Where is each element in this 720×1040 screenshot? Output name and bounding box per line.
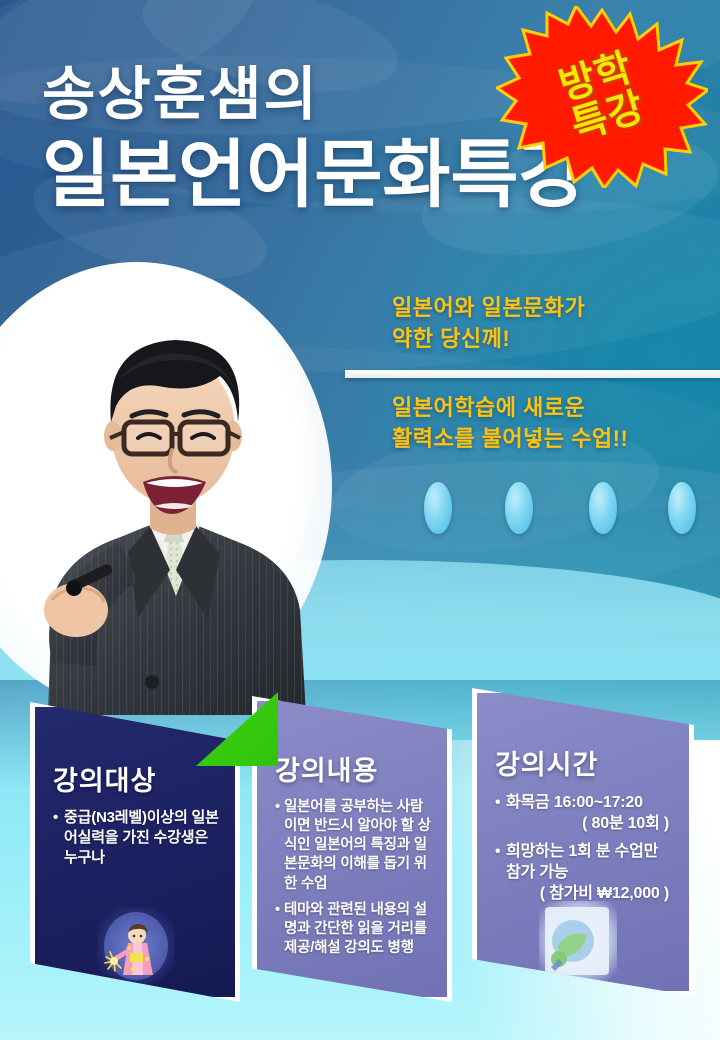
panel-2-heading: 강의내용 bbox=[275, 749, 431, 788]
globe-photo-icon bbox=[539, 901, 617, 983]
panel-1-list: 중급(N3레벨)이상의 일본어실력을 가진 수강생은 누구나 bbox=[53, 808, 219, 867]
tagline-1-line-2: 약한 당신께! bbox=[392, 323, 585, 354]
decorative-oval bbox=[505, 482, 533, 534]
decorative-oval bbox=[424, 482, 452, 534]
list-item: 일본어를 공부하는 사람이면 반드시 알아야 할 상식인 일본어의 특징과 일본… bbox=[275, 798, 431, 894]
panel-3-list: 화목금 16:00~17:20 ( 80분 10회 ) 희망하는 1회 분 수업… bbox=[495, 792, 673, 905]
tagline-2-line-1: 일본어학습에 새로운 bbox=[392, 392, 628, 423]
panel-2-list: 일본어를 공부하는 사람이면 반드시 알아야 할 상식인 일본어의 특징과 일본… bbox=[275, 798, 431, 958]
panel-3-heading: 강의시간 bbox=[495, 743, 673, 782]
presenter-illustration bbox=[0, 270, 330, 715]
list-item: 테마와 관련된 내용의 설명과 간단한 읽을 거리를 제공/해설 강의도 병행 bbox=[275, 901, 431, 958]
tagline-2-line-2: 활력소를 불어넣는 수업!! bbox=[392, 423, 628, 454]
decorative-oval bbox=[589, 482, 617, 534]
decorative-oval bbox=[668, 482, 696, 534]
yukata-girl-sparkler-icon bbox=[97, 907, 175, 985]
panel-1-heading: 강의대상 bbox=[53, 759, 219, 798]
tagline-primary: 일본어와 일본문화가 약한 당신께! bbox=[392, 292, 585, 354]
divider-rule bbox=[345, 370, 720, 378]
presenter-photo bbox=[0, 270, 330, 715]
panel-target-audience[interactable]: 강의대상 중급(N3레벨)이상의 일본어실력을 가진 수강생은 누구나 bbox=[30, 702, 240, 1002]
info-panels: 강의대상 중급(N3레벨)이상의 일본어실력을 가진 수강생은 누구나 bbox=[0, 688, 720, 1018]
tagline-secondary: 일본어학습에 새로운 활력소를 불어넣는 수업!! bbox=[392, 392, 628, 454]
panel-lecture-time[interactable]: 강의시간 화목금 16:00~17:20 ( 80분 10회 ) 희망하는 1회… bbox=[472, 688, 694, 996]
tagline-1-line-1: 일본어와 일본문화가 bbox=[392, 292, 585, 323]
list-item: 화목금 16:00~17:20 ( 80분 10회 ) bbox=[495, 792, 673, 834]
panel-lecture-content[interactable]: 강의내용 일본어를 공부하는 사람이면 반드시 알아야 할 상식인 일본어의 특… bbox=[252, 696, 452, 1002]
list-item: 중급(N3레벨)이상의 일본어실력을 가진 수강생은 누구나 bbox=[53, 808, 219, 867]
list-item: 희망하는 1회 분 수업만 참가 가능 ( 참가비 ₩12,000 ) bbox=[495, 841, 673, 904]
starburst-badge: 방학 특강 bbox=[496, 6, 708, 188]
poster-canvas: 송상훈샘의 일본언어문화특강 방학 특강 일본어와 일본문화가 약한 당신께! … bbox=[0, 0, 720, 1040]
